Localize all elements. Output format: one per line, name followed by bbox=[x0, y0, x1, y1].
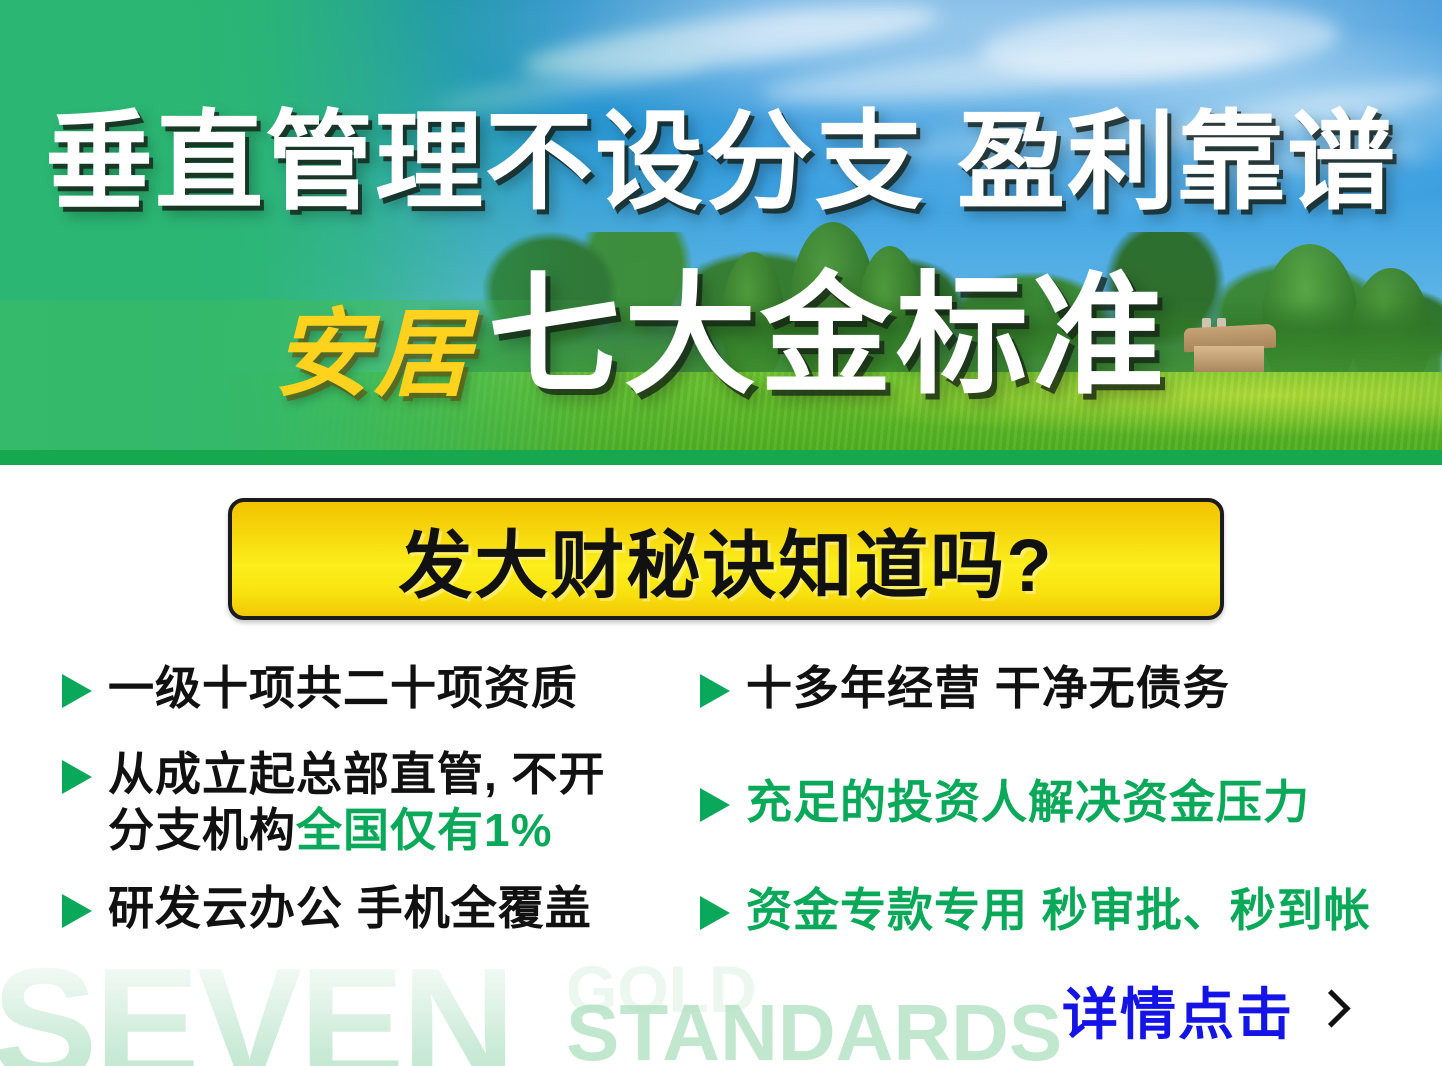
list-item-line2-highlight: 全国仅有1% bbox=[296, 804, 552, 856]
advertisement-poster: 垂直管理不设分支 盈利靠谱 安居七大金标准 发大财秘诀知道吗? 一级十项共二十项… bbox=[0, 0, 1442, 1066]
hero-headline: 垂直管理不设分支 盈利靠谱 bbox=[0, 108, 1442, 216]
triangle-bullet-icon bbox=[62, 760, 92, 794]
feature-column-left: 一级十项共二十项资质 从成立起总部直管, 不开分支机构全国仅有1% 研发云办公 … bbox=[62, 660, 702, 962]
list-item-label: 一级十项共二十项资质 bbox=[108, 660, 578, 716]
list-item-label: 充足的投资人解决资金压力 bbox=[746, 774, 1310, 830]
hero-subtitle: 安居七大金标准 bbox=[0, 270, 1442, 403]
highlight-banner-text: 发大财秘诀知道吗? bbox=[398, 506, 1053, 613]
triangle-bullet-icon bbox=[62, 674, 92, 708]
triangle-bullet-icon bbox=[700, 788, 730, 822]
list-item: 从成立起总部直管, 不开分支机构全国仅有1% bbox=[62, 746, 702, 858]
list-item-line2-plain: 分支机构 bbox=[108, 804, 296, 856]
list-item: 研发云办公 手机全覆盖 bbox=[62, 880, 702, 936]
chevron-right-icon bbox=[1316, 991, 1338, 1031]
list-item-label: 研发云办公 手机全覆盖 bbox=[108, 880, 592, 936]
list-item: 充足的投资人解决资金压力 bbox=[700, 774, 1420, 830]
hero-subtitle-main: 七大金标准 bbox=[488, 270, 1168, 402]
triangle-bullet-icon bbox=[700, 896, 730, 930]
highlight-banner[interactable]: 发大财秘诀知道吗? bbox=[228, 498, 1224, 620]
feature-list: 一级十项共二十项资质 从成立起总部直管, 不开分支机构全国仅有1% 研发云办公 … bbox=[0, 660, 1442, 1000]
triangle-bullet-icon bbox=[700, 674, 730, 708]
feature-column-right: 十多年经营 干净无债务 充足的投资人解决资金压力 资金专款专用 秒审批、秒到帐 bbox=[700, 660, 1420, 964]
triangle-bullet-icon bbox=[62, 894, 92, 928]
list-item-label: 从成立起总部直管, 不开分支机构全国仅有1% bbox=[108, 746, 606, 858]
list-item: 资金专款专用 秒审批、秒到帐 bbox=[700, 882, 1420, 938]
list-item: 十多年经营 干净无债务 bbox=[700, 660, 1420, 716]
list-item-label: 十多年经营 干净无债务 bbox=[746, 660, 1230, 716]
list-item-line1: 从成立起总部直管, 不开 bbox=[108, 748, 606, 800]
list-item: 一级十项共二十项资质 bbox=[62, 660, 702, 716]
cta-link[interactable]: 详情点击 bbox=[1062, 970, 1338, 1051]
list-item-label: 资金专款专用 秒审批、秒到帐 bbox=[746, 882, 1371, 938]
hero-banner: 垂直管理不设分支 盈利靠谱 安居七大金标准 bbox=[0, 0, 1442, 465]
hero-subtitle-brand: 安居 bbox=[274, 307, 474, 403]
cta-label: 详情点击 bbox=[1062, 970, 1294, 1051]
watermark-standards: STANDARDS bbox=[566, 1000, 1062, 1066]
hero-bottom-bar bbox=[0, 450, 1442, 465]
